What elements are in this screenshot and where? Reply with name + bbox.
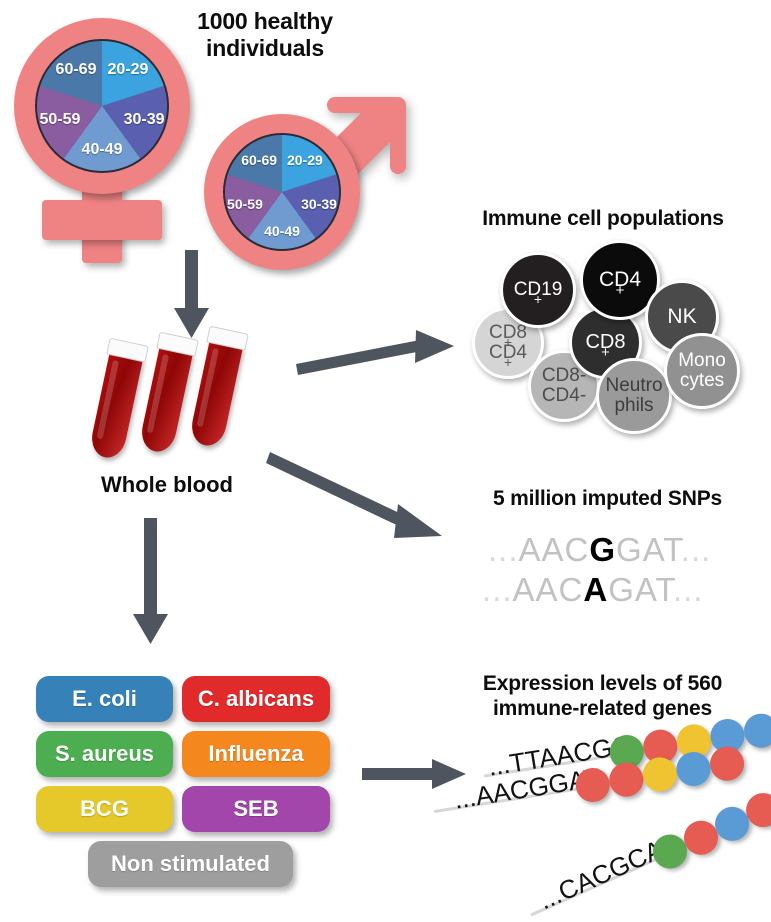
snp-sequence-row-2: ...AACAGAT... [482,571,703,609]
snp-variant-allele: G [589,531,616,568]
cell-label: CD4+ [599,269,641,291]
cell-label-line2: cytes [678,371,726,391]
snp-suffix: ... [673,571,704,608]
snp-suffix: ... [681,531,712,568]
stimulation-s-aureus[interactable]: S. aureus [36,731,173,777]
cell-cd8n-cd4n: CD8- CD4- [528,350,600,422]
snp-prefix: ... [482,571,513,608]
stimulation-c-albicans[interactable]: C. albicans [182,676,330,722]
cell-label-line2: CD4+ [489,343,527,363]
rna-bead [679,815,724,860]
rna-bead [647,829,692,874]
rna-bead [641,727,680,766]
rna-bead [640,755,679,794]
stimulation-non-stimulated[interactable]: Non stimulated [88,841,293,887]
snp-variant-allele: A [583,571,608,608]
cell-cd19p: CD19+ [500,252,576,328]
snp-left-flank: AAC [513,571,584,608]
cell-neutrophils: Neutro phils [596,358,672,434]
stimulation-seb[interactable]: SEB [182,786,330,832]
snp-left-flank: AAC [519,531,590,568]
stimulation-label: Influenza [208,741,303,767]
strand-sequence-text: ...AACGGAT [452,762,602,816]
arrow-stimulations-to-expression [362,756,472,796]
cell-label-line1: CD8- [542,366,586,386]
stimulation-label: SEB [233,796,278,822]
cell-cd8p: CD8+ [569,306,642,379]
rna-bead [674,750,713,789]
rna-bead [708,744,747,783]
cell-cd4p: CD4+ [580,240,660,320]
rna-bead [674,722,713,761]
snp-prefix: ... [488,531,519,568]
stimulation-label: C. albicans [198,686,314,712]
cell-label: CD8+ [585,332,625,353]
strand-sequence-text: ...CACGCAA [534,827,684,916]
cell-cd8p-cd4p: CD8+ CD4+ [472,307,544,379]
rna-bead [573,766,612,805]
stimulation-label: S. aureus [55,741,154,767]
strand-sequence-text: ...TTAACGG [486,729,634,782]
cell-label-line2: CD4- [542,386,586,406]
rna-bead [741,788,771,833]
section-title-immune-cells: Immune cell populations [448,207,758,232]
stimulation-label: BCG [80,796,129,822]
cell-monocytes: Mono cytes [664,333,740,409]
cell-label: NK [667,306,696,328]
rna-bead [708,717,747,756]
section-title-snps: 5 million imputed SNPs [455,487,760,512]
stimulation-panel: E. coli C. albicans S. aureus Influenza … [0,0,360,922]
figure-canvas: 1000 healthy individuals 20-2930-3940-49… [0,0,771,922]
snp-right-flank: GAT [608,571,673,608]
stimulation-bcg[interactable]: BCG [36,786,173,832]
stimulation-label: Non stimulated [111,851,270,877]
rna-bead [607,733,646,772]
stimulation-influenza[interactable]: Influenza [182,731,330,777]
stimulation-e-coli[interactable]: E. coli [36,676,173,722]
cell-label-line1: CD8+ [489,323,527,343]
rna-bead [710,801,755,846]
cell-label-line2: phils [605,396,662,416]
cell-label-line1: Neutro [605,376,662,396]
snp-sequence-row-1: ...AACGGAT... [488,531,711,569]
cell-label: CD19+ [514,280,563,300]
section-title-expression: Expression levels of 560 immune-related … [440,672,765,721]
rna-bead [607,760,646,799]
cell-nk: NK [645,280,719,354]
cell-label-line1: Mono [678,351,726,371]
strand-backbone [484,754,613,777]
strand-backbone [530,858,657,917]
stimulation-label: E. coli [72,686,137,712]
snp-right-flank: GAT [616,531,681,568]
